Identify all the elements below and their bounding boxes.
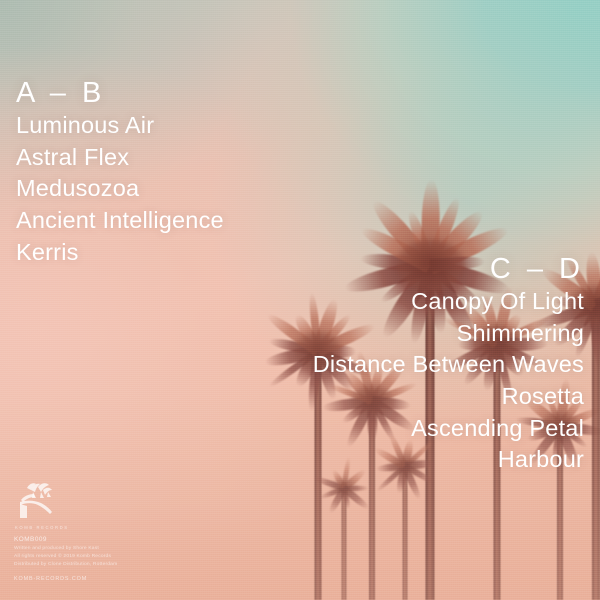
track-item: Luminous Air [16, 110, 224, 142]
track-item: Astral Flex [16, 142, 224, 174]
catalogue-number: KOMB009 [14, 536, 234, 543]
palm-crown-core [332, 478, 357, 497]
track-item: Medusozoa [16, 173, 224, 205]
track-item: Harbour [313, 444, 584, 476]
track-item: Shimmering [313, 318, 584, 350]
label-website: KOMB-RECORDS.COM [14, 576, 234, 582]
track-item: Ancient Intelligence [16, 205, 224, 237]
track-item: Rosetta [313, 381, 584, 413]
track-item: Ascending Petal [313, 413, 584, 445]
album-artwork: A – B Luminous Air Astral Flex Medusozoa… [0, 0, 600, 600]
side-ab-heading: A – B [16, 76, 224, 110]
label-credits-block: KOMB RECORDS KOMB009 Written and produce… [14, 478, 234, 582]
credits-line: Written and produced by Shore Kast [14, 545, 234, 553]
tracklist-side-ab: A – B Luminous Air Astral Flex Medusozoa… [16, 76, 224, 268]
credits-line: All rights reserved © 2019 Komb Records [14, 553, 234, 561]
track-item: Kerris [16, 237, 224, 269]
tracklist-side-cd: C – D Canopy Of Light Shimmering Distanc… [313, 252, 584, 476]
credits-line: Distributed by Clone Distribution, Rotte… [14, 561, 234, 569]
label-logo-name: KOMB RECORDS [15, 525, 234, 530]
track-item: Distance Between Waves [313, 349, 584, 381]
track-item: Canopy Of Light [313, 286, 584, 318]
hand-with-birds-logo-icon [14, 478, 60, 522]
side-cd-heading: C – D [313, 252, 584, 286]
